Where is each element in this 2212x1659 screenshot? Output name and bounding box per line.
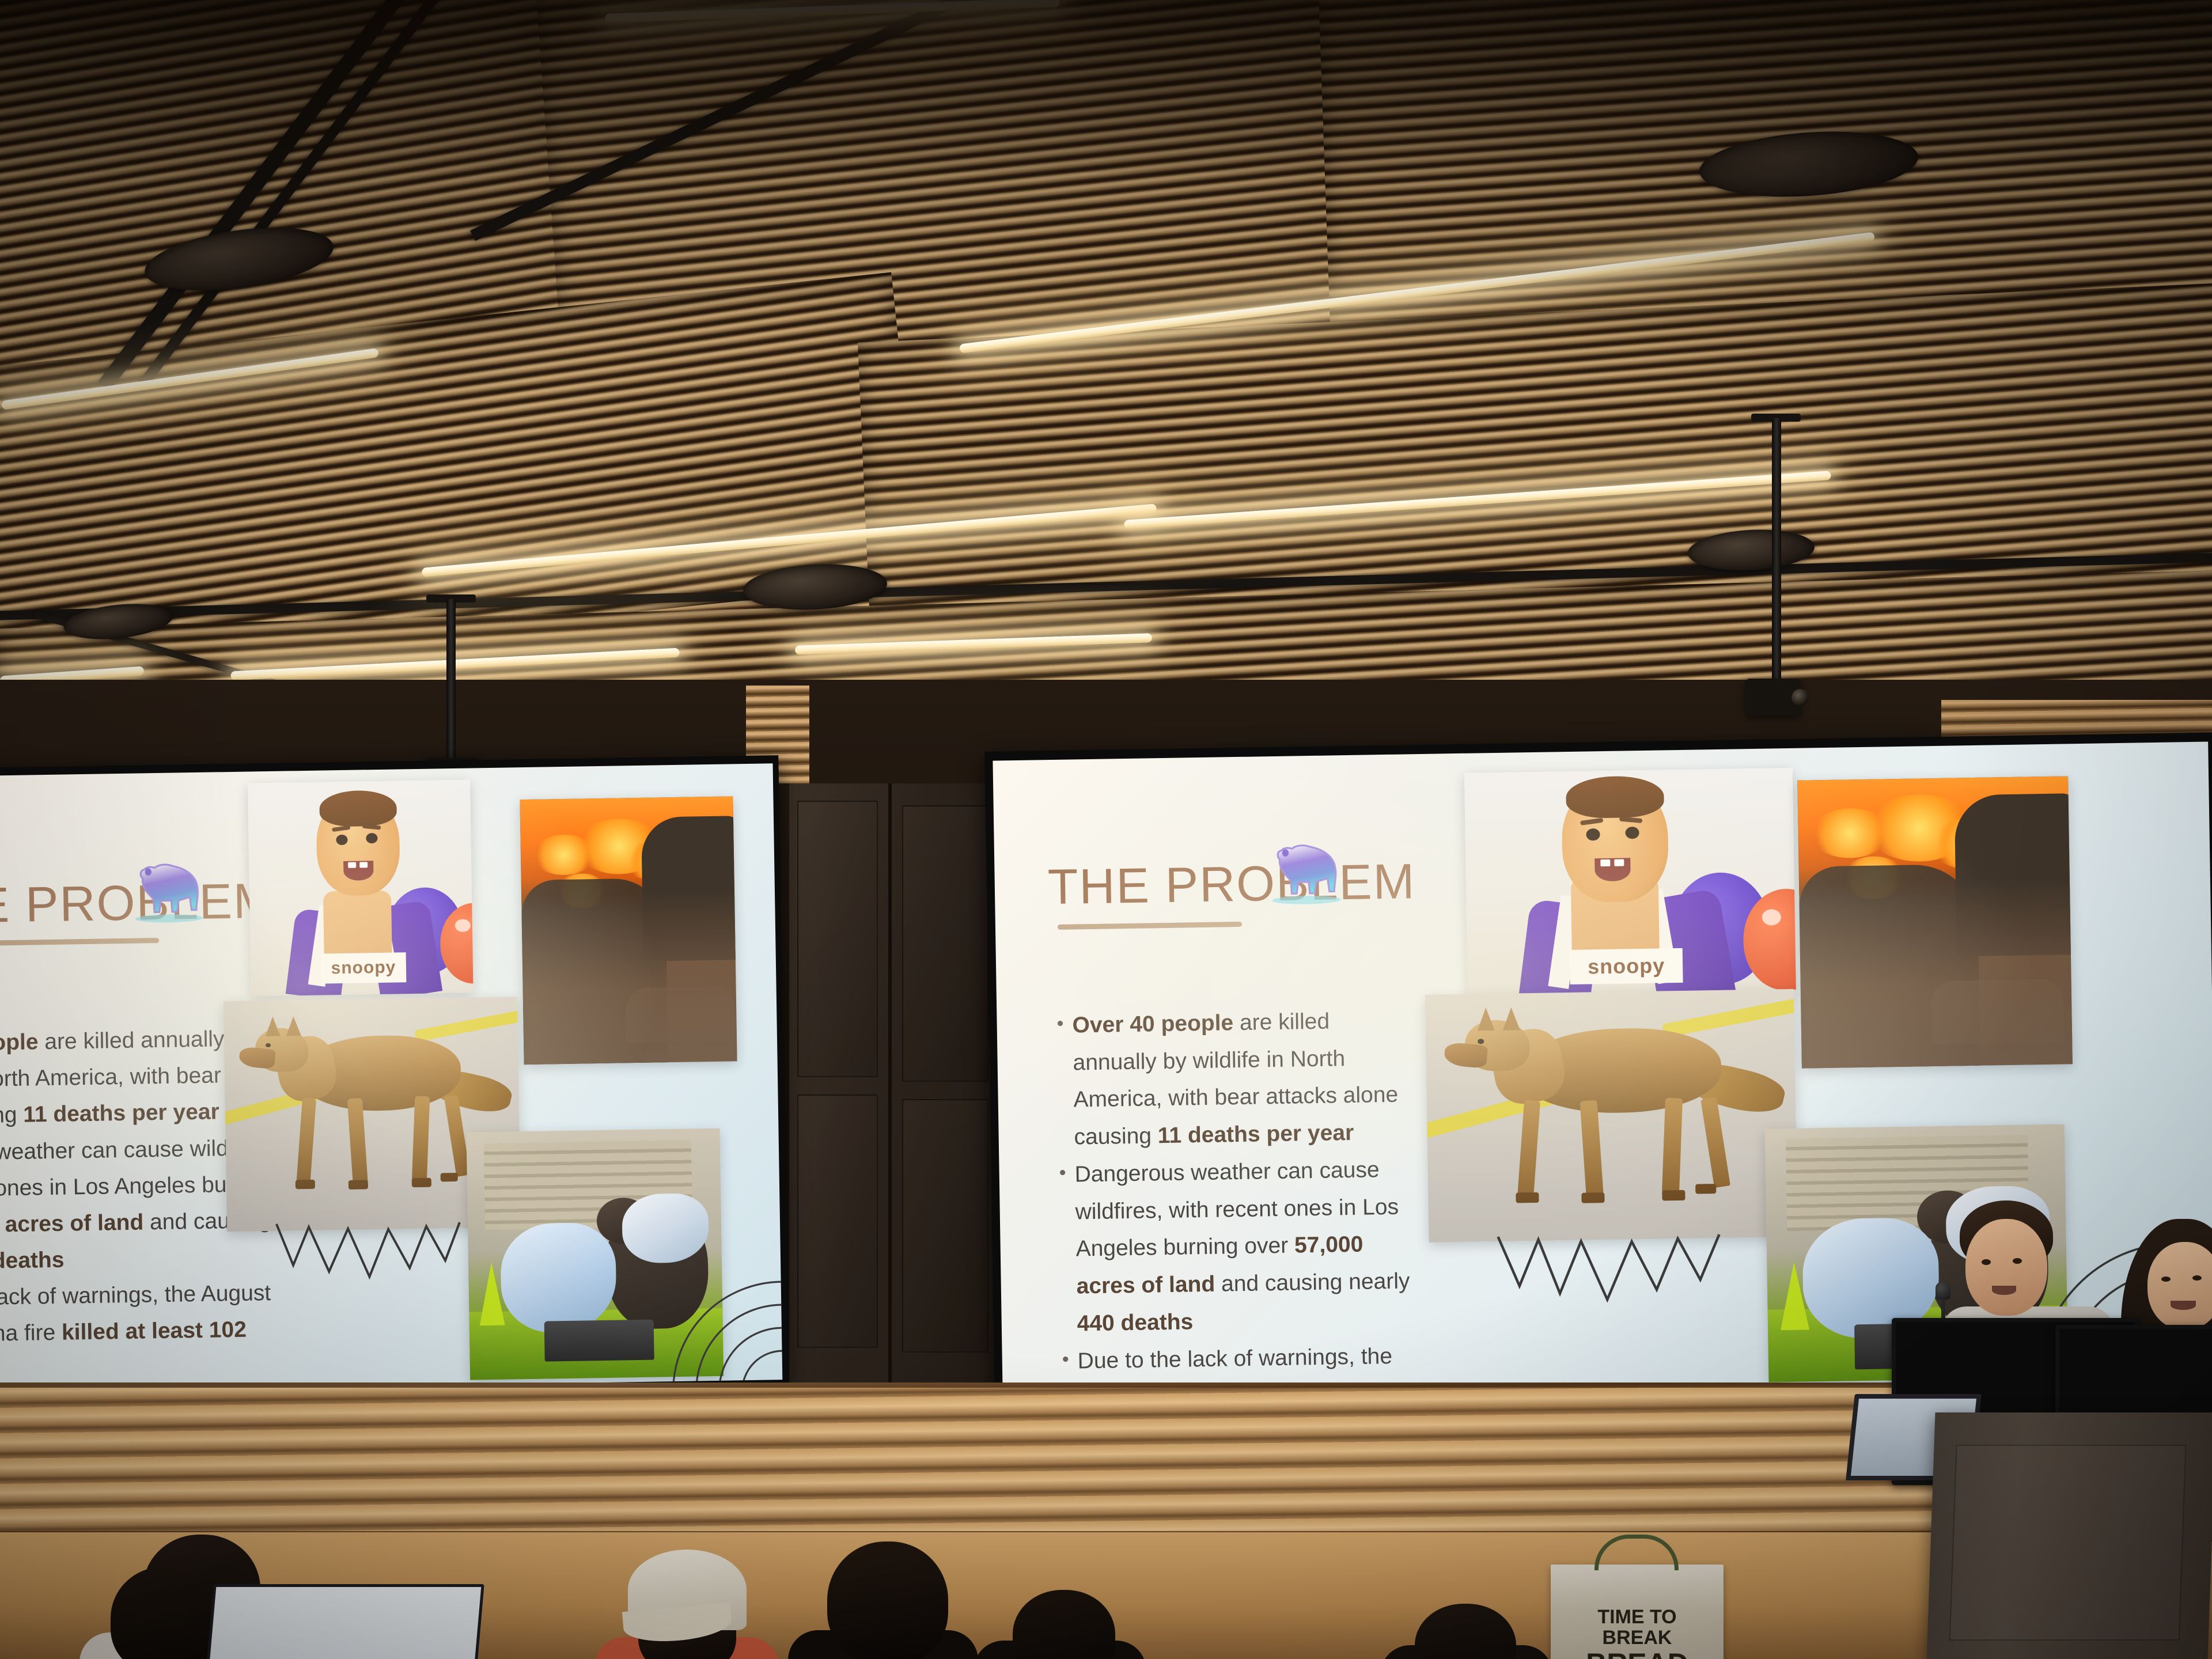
photo-baby: snoopy	[248, 779, 474, 996]
coyote-paw-4	[1695, 1184, 1716, 1194]
left-title-rule	[0, 938, 159, 947]
center-column	[789, 783, 1002, 1382]
tote-bag-line-3: BREAD	[1551, 1649, 1724, 1659]
slatted-wood-ceiling	[0, 0, 2212, 783]
baby-tooth-1	[348, 862, 356, 868]
presenter-2-eye-left	[2161, 1277, 2171, 1282]
presenter-1-mouth	[1992, 1286, 2016, 1295]
podium-front-panel	[1949, 1445, 2187, 1641]
coyote-ear-left	[1477, 1007, 1495, 1031]
presenter-2-eye-right	[2192, 1275, 2202, 1281]
projector-lens-right	[1791, 689, 1809, 706]
baby-outfit-label: snoopy	[321, 952, 407, 983]
photo-coyote	[1425, 989, 1798, 1243]
zigzag-burst-decoration	[273, 1218, 465, 1319]
coyote-paw-2	[1581, 1192, 1604, 1203]
trash-bin	[544, 1320, 654, 1362]
bullet-wildlife: • Over 40 people are killed annually by …	[1056, 1002, 1410, 1156]
coyote-ear-right	[286, 1016, 301, 1036]
photo-wildfire	[1797, 776, 2073, 1068]
photo-baby: snoopy	[1464, 768, 1796, 998]
tote-bag-line-2: BREAK	[1551, 1628, 1724, 1649]
tote-bag: TIME TO BREAK BREAD	[1551, 1565, 1724, 1659]
left-screen-frame: THE PROBLEM	[0, 755, 789, 1402]
coyote-leg-1	[296, 1097, 316, 1184]
bullet-wildfire: • Dangerous weather can cause wildfires,…	[1059, 1151, 1413, 1343]
right-title-rule	[1058, 922, 1242, 930]
audience-laptop-screen	[207, 1587, 482, 1659]
coyote-ear-right	[1502, 1007, 1520, 1030]
right-bullet-list: • Over 40 people are killed annually by …	[1056, 1002, 1415, 1397]
wildfire-smoke-haze	[520, 796, 737, 1065]
presenter-1-head	[1965, 1219, 2047, 1316]
coyote-leg-4	[1700, 1097, 1730, 1188]
left-bullet-item: • Due to the lack of warnings, the Augus…	[0, 1274, 321, 1391]
presenter-1-eye-left	[1982, 1259, 1991, 1265]
tote-bag-line-1: TIME TO	[1551, 1607, 1724, 1628]
baby-tooth-1	[1600, 859, 1610, 866]
baby-hair	[1566, 775, 1664, 819]
baby-hair	[319, 790, 397, 827]
baby-outfit-label: snoopy	[1570, 948, 1683, 984]
coyote-paw-1	[296, 1180, 315, 1190]
coyote-snout	[1444, 1042, 1488, 1069]
coyote-paw-4	[441, 1173, 458, 1181]
coyote-paw-3	[412, 1178, 431, 1188]
column-panel-1	[797, 801, 878, 1077]
coyote-snout	[238, 1047, 276, 1069]
zigzag-burst-decoration	[1493, 1229, 1725, 1347]
stage-edge-top	[0, 1382, 2212, 1388]
wildfire-smoke-haze	[1797, 776, 2073, 1068]
baby-tooth-2	[1614, 859, 1624, 866]
audience-3-head	[827, 1541, 948, 1659]
lecture-podium	[1926, 1412, 2212, 1659]
coyote-leg-3	[412, 1096, 430, 1180]
gooseneck-microphone[interactable]	[1935, 1282, 1950, 1300]
projector-pole-right	[1772, 418, 1781, 689]
bear-logo	[1264, 828, 1347, 916]
coyote-leg-2	[1580, 1100, 1604, 1197]
coyote-paw-2	[349, 1180, 368, 1190]
presenter-1-eye-right	[2013, 1258, 2022, 1264]
left-projection-screen[interactable]: THE PROBLEM	[0, 763, 782, 1392]
baby-tooth-2	[359, 862, 368, 868]
coyote-paw-1	[1516, 1192, 1539, 1203]
column-seam	[888, 783, 892, 1382]
concentric-arcs-decoration	[665, 1161, 782, 1392]
coyote-paw-3	[1662, 1190, 1685, 1201]
column-panel-4	[902, 1099, 988, 1353]
lecture-hall-scene: THE PROBLEM	[0, 0, 2212, 1659]
coyote-ear-left	[265, 1017, 281, 1036]
audience-2-head	[111, 1567, 220, 1659]
photo-wildfire	[520, 796, 737, 1065]
presenter-2-head	[2147, 1242, 2212, 1330]
coyote-leg-1	[1517, 1100, 1540, 1198]
presenter-2-mouth	[2171, 1301, 2196, 1310]
right-slide-title: THE PROBLEM	[1047, 853, 1416, 916]
coyote-leg-2	[347, 1098, 368, 1184]
coyote	[1441, 999, 1785, 1235]
coyote-leg-3	[1662, 1098, 1683, 1193]
column-panel-3	[797, 1094, 878, 1348]
audience-laptop[interactable]	[203, 1584, 484, 1659]
column-panel-2	[902, 805, 988, 1082]
bear-logo	[128, 847, 210, 935]
projector-pole-left	[446, 599, 456, 766]
left-slide: THE PROBLEM	[0, 763, 782, 1392]
